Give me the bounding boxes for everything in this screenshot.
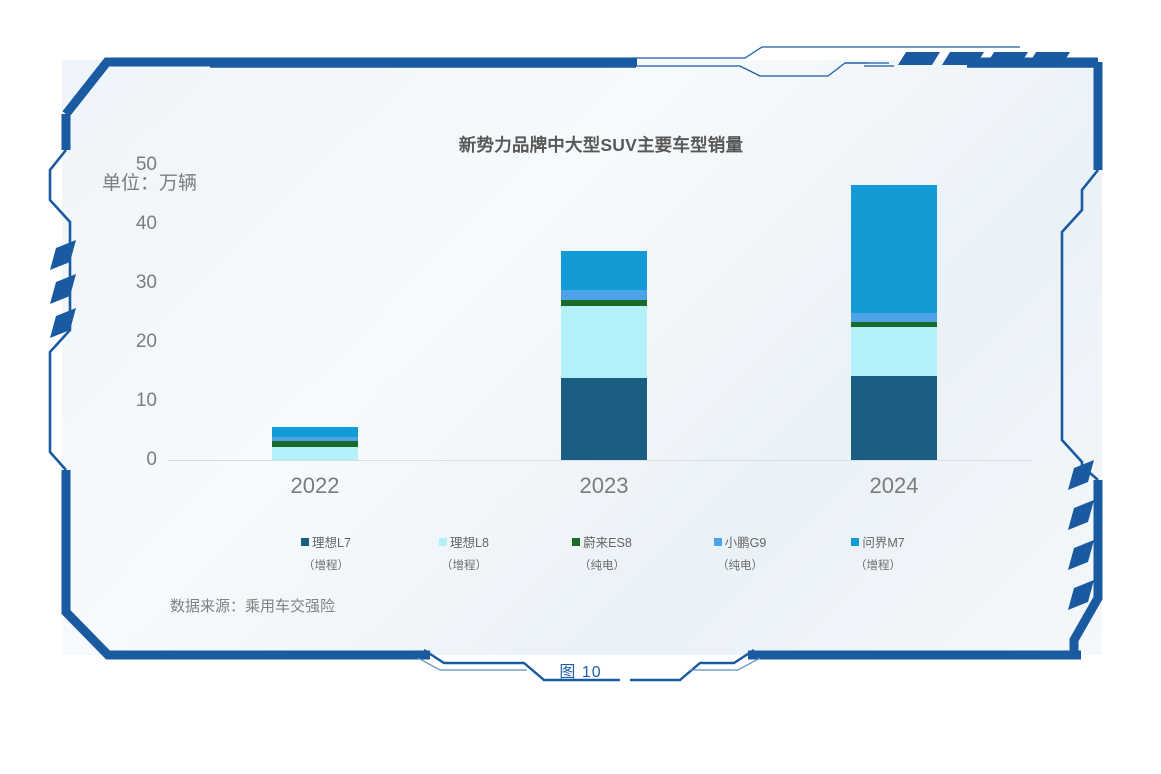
figure-caption: 图 10 (0, 658, 1161, 682)
legend-swatch-icon (301, 538, 309, 546)
source-note: 数据来源：乘用车交强险 (170, 595, 335, 616)
legend-label: 理想L8 (400, 532, 528, 551)
bar-segment[interactable] (851, 376, 937, 460)
x-axis-line (167, 460, 1032, 461)
legend-label: 蔚来ES8 (538, 532, 666, 551)
y-tick-label: 10 (97, 390, 157, 412)
bar-segment[interactable] (851, 327, 937, 376)
bar-segment[interactable] (561, 378, 647, 460)
legend-swatch-icon (714, 538, 722, 546)
legend-item[interactable]: 蔚来ES8（纯电） (538, 532, 666, 573)
bar-segment[interactable] (272, 427, 358, 437)
y-tick-label: 20 (97, 331, 157, 353)
legend-swatch-icon (851, 538, 859, 546)
legend-label: 小鹏G9 (676, 532, 804, 551)
bar-segment[interactable] (561, 251, 647, 290)
legend-sublabel: （纯电） (676, 557, 804, 573)
legend-sublabel: （增程） (400, 557, 528, 573)
legend-item[interactable]: 理想L7（增程） (262, 532, 390, 573)
bar-segment[interactable] (851, 313, 937, 322)
legend-label: 理想L7 (262, 532, 390, 551)
legend-item[interactable]: 小鹏G9（纯电） (676, 532, 804, 573)
plot-area: 01020304050 202220232024 (167, 165, 1032, 460)
legend-sublabel: （增程） (814, 557, 942, 573)
legend-swatch-icon (572, 538, 580, 546)
x-tick-label: 2022 (215, 473, 415, 499)
bar-segment[interactable] (561, 290, 647, 300)
y-tick-label: 30 (97, 272, 157, 294)
legend-item[interactable]: 问界M7（增程） (814, 532, 942, 573)
y-tick-label: 50 (97, 154, 157, 176)
bar-stack[interactable] (851, 185, 937, 460)
bar-segment[interactable] (561, 306, 647, 378)
legend-item[interactable]: 理想L8（增程） (400, 532, 528, 573)
chart-title: 新势力品牌中大型SUV主要车型销量 (62, 132, 1102, 157)
x-tick-label: 2023 (504, 473, 704, 499)
legend-swatch-icon (439, 538, 447, 546)
bar-stack[interactable] (272, 427, 358, 460)
y-tick-label: 0 (97, 449, 157, 471)
bar-stack[interactable] (561, 251, 647, 460)
bar-segment[interactable] (851, 185, 937, 314)
chart-legend: 理想L7（增程）理想L8（增程）蔚来ES8（纯电）小鹏G9（纯电）问界M7（增程… (262, 532, 942, 573)
legend-sublabel: （增程） (262, 557, 390, 573)
legend-sublabel: （纯电） (538, 557, 666, 573)
x-tick-label: 2024 (794, 473, 994, 499)
bar-segment[interactable] (272, 447, 358, 460)
chart-container: 新势力品牌中大型SUV主要车型销量 单位：万辆 01020304050 2022… (62, 60, 1102, 655)
legend-label: 问界M7 (814, 532, 942, 551)
y-tick-label: 40 (97, 213, 157, 235)
